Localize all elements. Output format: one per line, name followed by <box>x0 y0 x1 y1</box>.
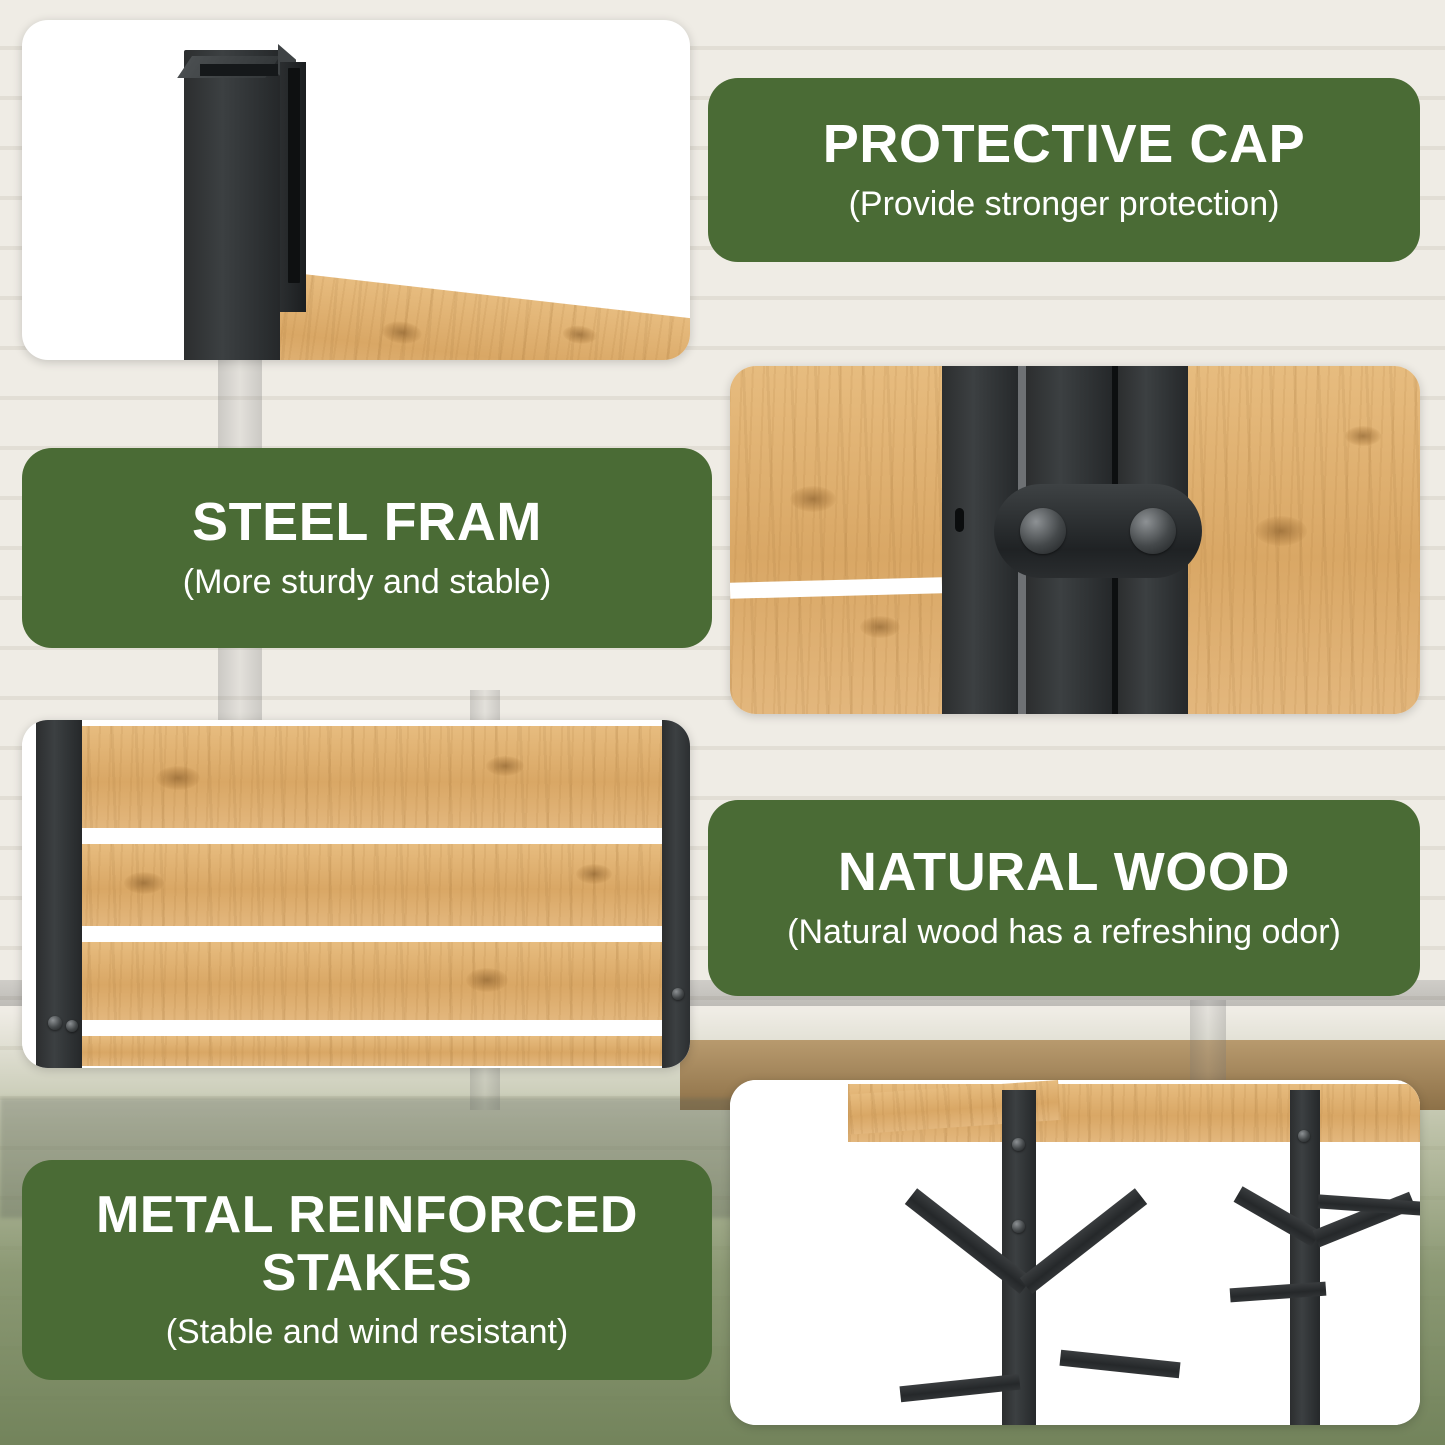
post-cap-inner-top <box>200 64 278 76</box>
stake-post-right <box>1290 1090 1320 1425</box>
feature-subtitle: (Stable and wind resistant) <box>166 1312 569 1353</box>
wood-knot <box>1345 426 1381 446</box>
wood-board <box>255 270 690 360</box>
post-cap-inner-channel <box>288 68 300 283</box>
screw <box>672 988 684 1000</box>
wood-knot <box>1255 516 1307 546</box>
screw-right <box>1130 508 1176 554</box>
photo-card-steel-fram <box>730 366 1420 714</box>
screw <box>48 1016 62 1030</box>
feature-subtitle: (Natural wood has a refreshing odor) <box>787 912 1341 953</box>
mounting-slot <box>955 508 964 532</box>
screw <box>1298 1130 1310 1142</box>
screw <box>1012 1138 1025 1151</box>
wood-slat <box>66 1036 666 1066</box>
wood-knot <box>860 616 900 638</box>
wood-board-left <box>730 366 942 714</box>
photo-card-protective-cap <box>22 20 690 360</box>
feature-title: METAL REINFORCED STAKES <box>96 1187 638 1301</box>
wood-knot <box>466 968 508 992</box>
screw-left <box>1020 508 1066 554</box>
wood-knot <box>381 319 423 345</box>
photo-card-metal-reinforced-stakes <box>730 1080 1420 1425</box>
feature-title: STEEL FRAM <box>192 493 542 552</box>
wood-slat <box>66 726 666 828</box>
wood-knot <box>790 486 836 512</box>
screw <box>66 1020 78 1032</box>
wood-knot <box>576 864 612 884</box>
product-feature-collage: PROTECTIVE CAP (Provide stronger protect… <box>0 0 1445 1445</box>
feature-subtitle: (More sturdy and stable) <box>183 562 552 603</box>
photo-card-natural-wood <box>22 720 690 1068</box>
bracket-plate <box>994 484 1202 578</box>
steel-post-left <box>36 720 82 1068</box>
feature-title: NATURAL WOOD <box>838 843 1290 902</box>
wood-board-right <box>1185 366 1420 714</box>
wood-knot <box>562 324 598 346</box>
feature-label-steel-fram: STEEL FRAM (More sturdy and stable) <box>22 448 712 648</box>
wood-slat <box>66 942 666 1020</box>
feature-subtitle: (Provide stronger protection) <box>849 184 1280 225</box>
wood-slat <box>66 844 666 926</box>
post-cap-outer <box>184 50 280 360</box>
wood-knot <box>156 766 200 790</box>
steel-post-right <box>662 720 690 1068</box>
wood-knot <box>486 756 524 776</box>
feature-label-natural-wood: NATURAL WOOD (Natural wood has a refresh… <box>708 800 1420 996</box>
screw <box>1012 1220 1025 1233</box>
wood-knot <box>124 872 164 894</box>
feature-label-metal-reinforced-stakes: METAL REINFORCED STAKES (Stable and wind… <box>22 1160 712 1380</box>
feature-title: PROTECTIVE CAP <box>823 115 1305 174</box>
feature-label-protective-cap: PROTECTIVE CAP (Provide stronger protect… <box>708 78 1420 262</box>
